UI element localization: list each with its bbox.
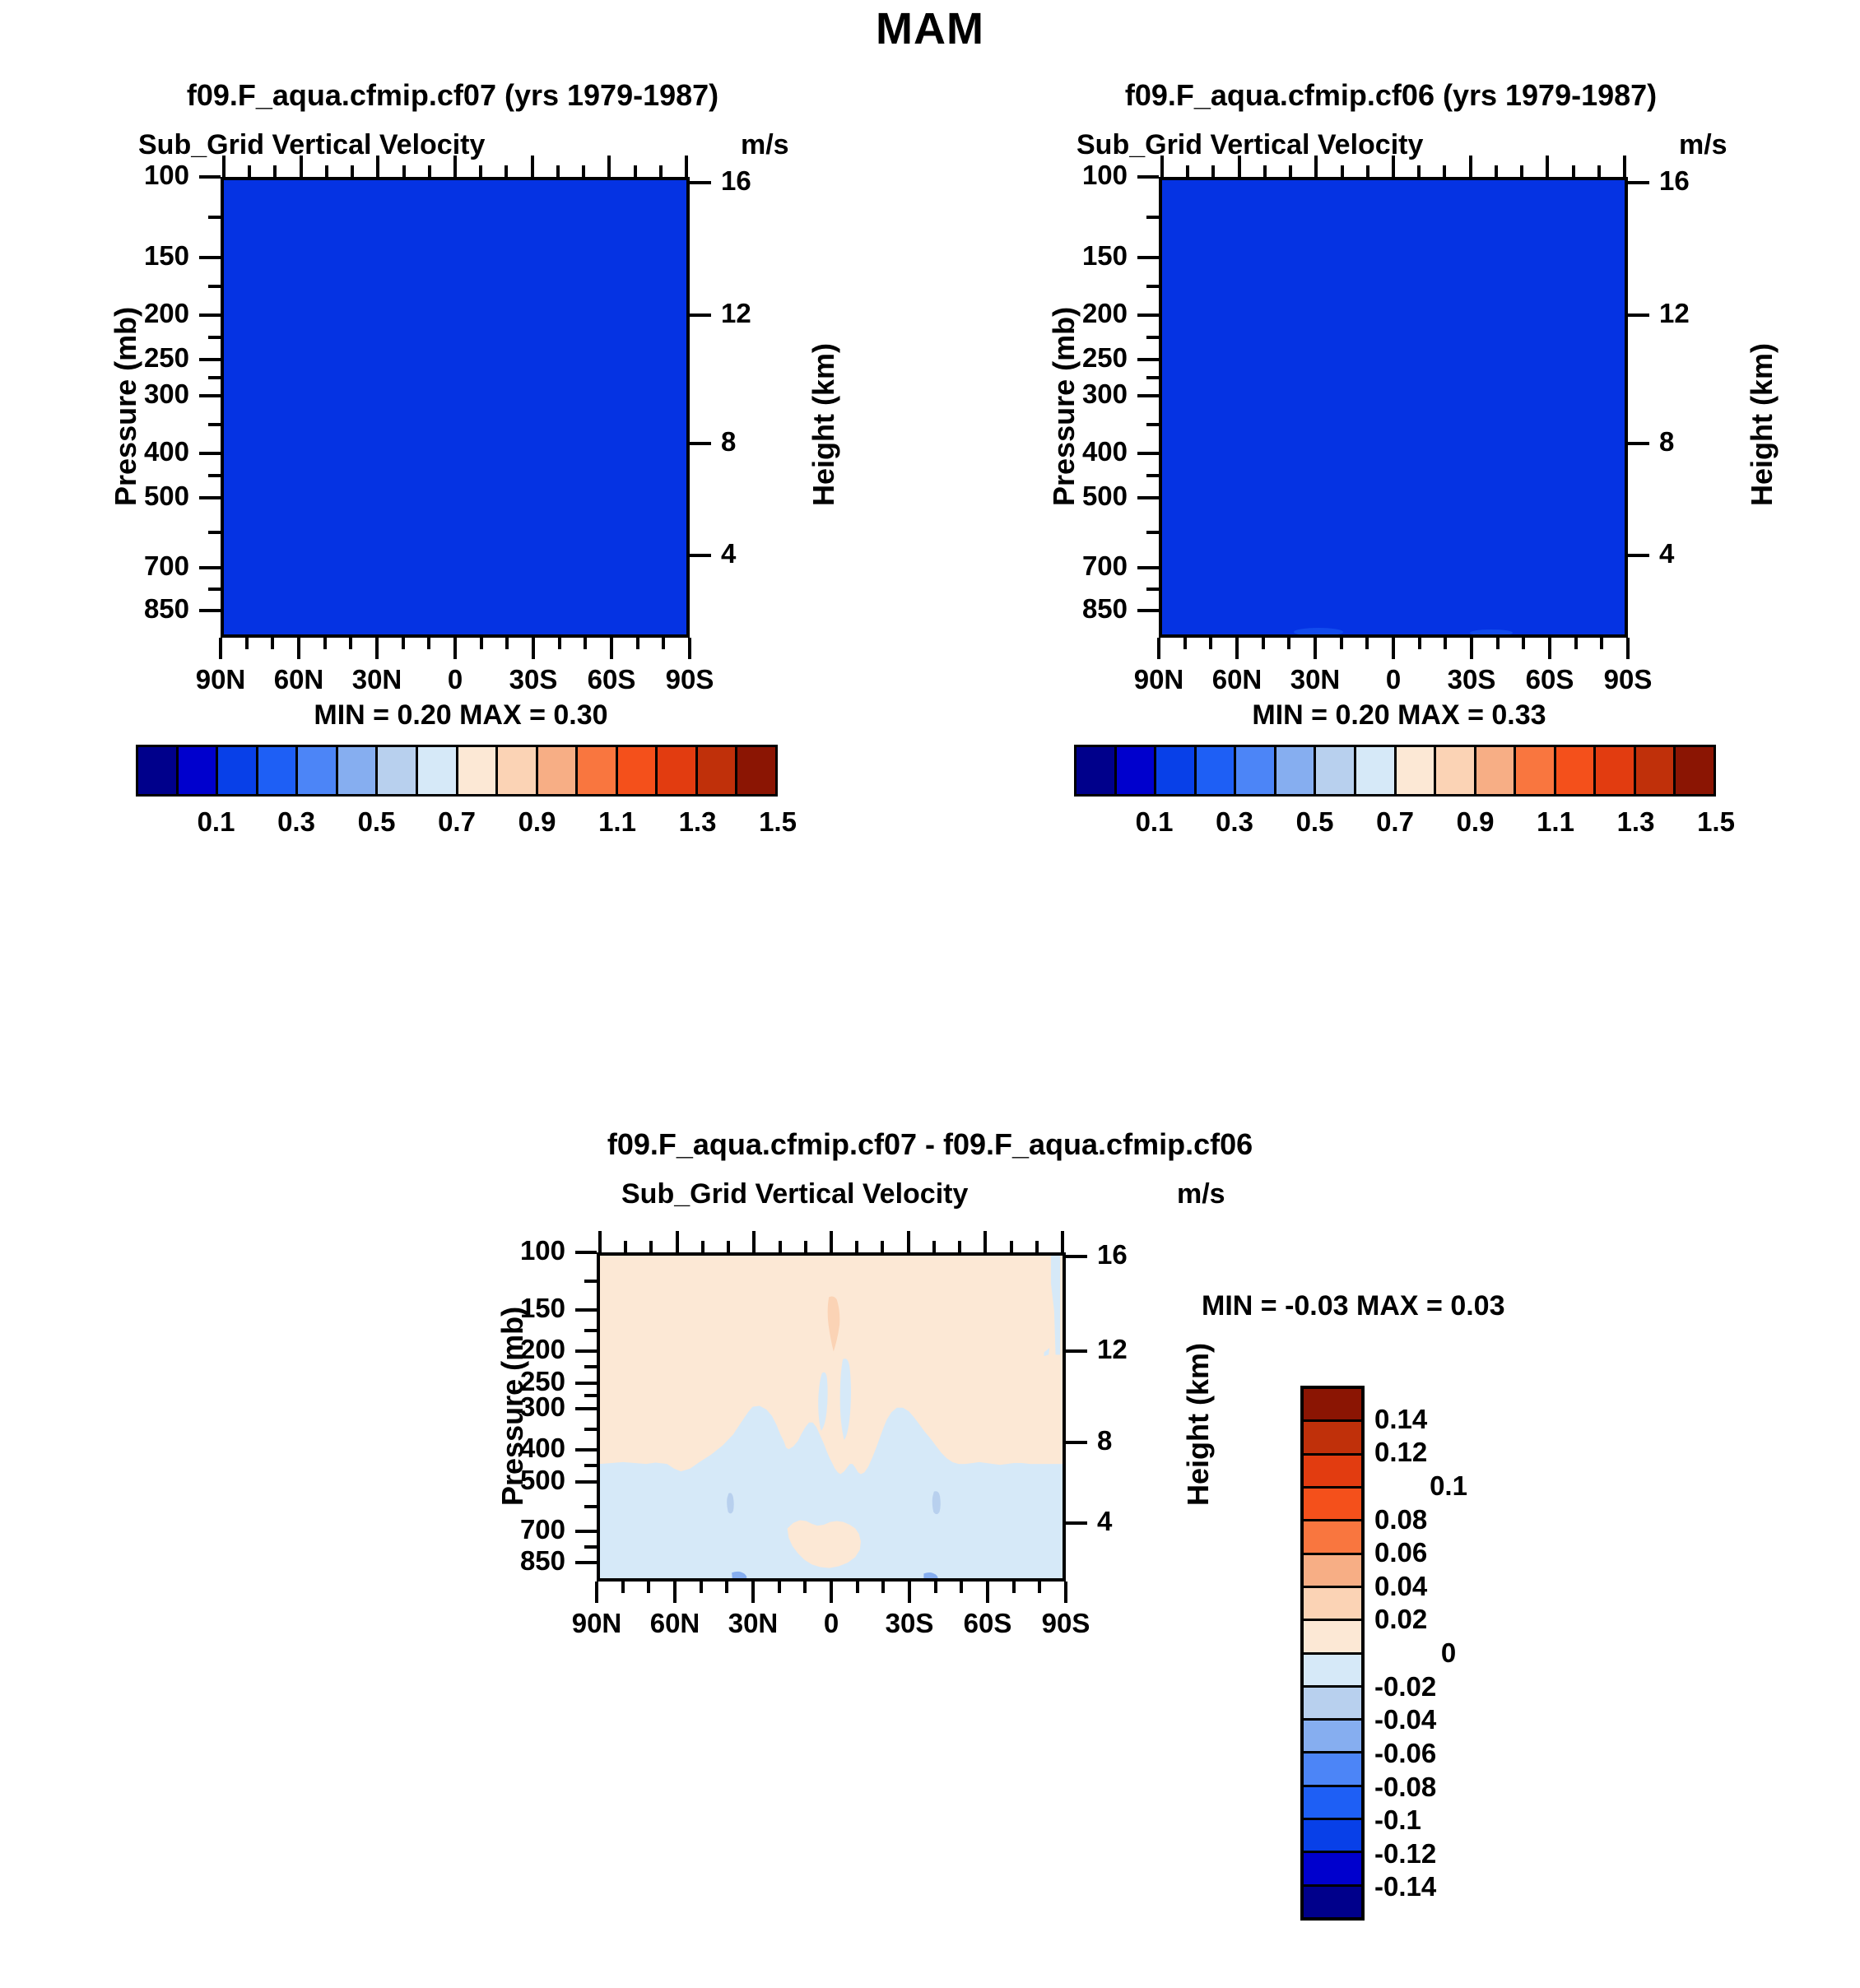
panel-right-y-tick [1137,175,1159,179]
panel-right-top-minor-tick [1572,165,1575,177]
panel-left-top-tick [685,156,688,177]
panel-diff-y-tick [575,1382,597,1385]
panel-left-colorbar-labels: 0.10.30.50.70.91.11.31.5 [136,806,778,839]
colorbar-swatch [1304,1422,1361,1455]
panel-right-top-tick [1469,156,1472,177]
colorbar-swatch [1397,747,1437,794]
panel-left-y-tick [199,314,221,317]
panel-diff-minmax: MIN = -0.03 MAX = 0.03 [1202,1290,1712,1322]
colorbar-tick-label: 0.3 [277,806,315,838]
panel-right-y-tick-label: 150 [1021,240,1128,272]
panel-left-y-tick-label: 150 [82,240,189,272]
panel-diff-top-tick [752,1231,756,1252]
colorbar-tick-label: 1.3 [679,806,717,838]
panel-left-y-tick [199,609,221,612]
panel-left-top-minor-tick [248,165,251,177]
panel-diff-height-tick-label: 16 [1097,1239,1128,1270]
colorbar-swatch [1304,1853,1361,1886]
panel-left-x-minor-tick [427,638,430,649]
panel-right-x-minor-tick [1287,638,1290,649]
panel-left-y2label: Height (km) [807,343,841,506]
panel-right-y-minor-tick [1146,216,1159,219]
panel-diff-x-tick [1064,1582,1067,1603]
panel-diff-x-minor-tick [778,1582,781,1593]
panel-right-y-axis: 100150200250300400500700850 [1021,177,1159,638]
panel-right-colorbar[interactable] [1074,745,1716,797]
colorbar-swatch [1676,747,1714,794]
panel-right-top-tick [1160,156,1164,177]
colorbar-tick-label: 0.06 [1374,1537,1523,1568]
panel-right-top-tick [1238,156,1241,177]
panel-left-y-minor-tick [208,588,221,591]
panel-left-y-minor-tick [208,376,221,379]
panel-left-x-tick [219,638,222,659]
panel-left-top-tick [453,156,457,177]
panel-left-x-minor-tick [323,638,327,649]
panel-left-x-minor-tick [271,638,274,649]
colorbar-swatch [1076,747,1117,794]
panel-diff-top-tick [598,1231,602,1252]
colorbar-tick-label: -0.08 [1374,1772,1523,1803]
colorbar-swatch [658,747,698,794]
panel-right-y-tick [1137,256,1159,259]
colorbar-swatch [1304,1721,1361,1753]
colorbar-tick-label: 1.1 [598,806,636,838]
panel-left-top-tick [607,156,611,177]
panel-right-y-tick-label: 850 [1021,593,1128,625]
panel-diff-y-tick [575,1251,597,1254]
panel-right-units: m/s [1679,129,1727,161]
panel-left-y-tick [199,175,221,179]
panel-diff-top-minor-tick [855,1241,858,1252]
panel-right-height-tick [1628,314,1649,317]
panel-left-y-tick [199,394,221,397]
colorbar-swatch [698,747,738,794]
colorbar-tick-label: 0.08 [1374,1504,1523,1535]
colorbar-swatch [1156,747,1197,794]
panel-left-units: m/s [741,129,789,161]
panel-diff-x-tick [986,1582,989,1603]
panel-diff-y-tick [575,1349,597,1353]
panel-right-y-tick [1137,394,1159,397]
panel-diff-y-tick [575,1480,597,1484]
panel-diff-x-minor-tick [647,1582,650,1593]
colorbar-swatch [258,747,299,794]
colorbar-tick-label: 0 [1374,1637,1523,1669]
panel-diff-top-minor-tick [649,1241,653,1252]
panel-left-top-tick [300,156,303,177]
panel-diff-x-axis [597,1582,1066,1605]
panel-diff-height-tick [1066,1349,1087,1353]
panel-diff-x-minor-tick [881,1582,885,1593]
panel-diff-y2label: Height (km) [1181,1343,1216,1506]
panel-right-height-tick [1628,442,1649,445]
panel-left-colorbar[interactable] [136,745,778,797]
colorbar-tick-label: 0.9 [518,806,556,838]
panel-left-x-minor-tick [402,638,405,649]
panel-left-x-minor-tick [245,638,249,649]
panel-right-y-minor-tick [1146,336,1159,339]
panel-left-y-tick [199,358,221,361]
panel-diff-x-tick-label: 90S [1016,1608,1115,1639]
colorbar-tick-label: 0.3 [1216,806,1253,838]
panel-diff-ylabel: Pressure (mb) [495,1307,530,1506]
panel-right-height-tick [1628,554,1649,557]
panel-diff-plot-area [597,1252,1066,1582]
colorbar-swatch [1636,747,1676,794]
panel-left-top-minor-tick [556,165,560,177]
colorbar-swatch [1304,1688,1361,1721]
panel-right-top-minor-tick [1366,165,1369,177]
panel-right-height-tick-label: 16 [1659,165,1690,197]
panel-diff-top-minor-tick [932,1241,936,1252]
panel-left-y-minor-tick [208,531,221,534]
panel-right-y-minor-tick [1146,474,1159,477]
panel-right-x-minor-tick [1496,638,1500,649]
panel-right-height-tick-label: 8 [1659,426,1674,458]
panel-diff-y-tick-label: 700 [477,1514,565,1545]
panel-right-top-minor-tick [1495,165,1498,177]
panel-right-top-minor-tick [1211,165,1215,177]
panel-diff-top-tick [676,1231,679,1252]
panel-diff-height-axis: 161284 [1066,1252,1197,1582]
panel-right-y-tick [1137,496,1159,499]
panel-left-y-tick [199,566,221,569]
panel-left-top-tick [531,156,534,177]
panel-left-y-minor-tick [208,336,221,339]
panel-diff-height-tick-label: 8 [1097,1425,1112,1456]
colorbar-swatch [1304,1753,1361,1786]
panel-left-minmax: MIN = 0.20 MAX = 0.30 [181,699,741,732]
panel-right-x-minor-tick [1209,638,1212,649]
colorbar-swatch [1316,747,1356,794]
panel-right-minmax: MIN = 0.20 MAX = 0.33 [1119,699,1679,732]
colorbar-tick-label: -0.02 [1374,1671,1523,1702]
panel-diff-height-tick [1066,1255,1087,1258]
colorbar-swatch [1356,747,1397,794]
panel-diff-top-minor-tick [701,1241,704,1252]
panel-left-top-minor-tick [634,165,637,177]
colorbar-tick-label: -0.1 [1374,1805,1523,1836]
panel-diff-top-axis [597,1231,1066,1254]
panel-right-top-minor-tick [1341,165,1344,177]
panel-diff-x-minor-tick [700,1582,703,1593]
panel-diff-y-tick [575,1530,597,1533]
panel-diff-height-tick [1066,1521,1087,1525]
panel-right-x-tick [1470,638,1473,659]
colorbar-swatch [138,747,179,794]
panel-diff-top-minor-tick [779,1241,782,1252]
colorbar-swatch [1304,1787,1361,1820]
panel-right-x-labels: 90N60N30N030S60S90S [1159,664,1628,697]
colorbar-tick-label: 0.12 [1374,1437,1523,1468]
panel-left-y-minor-tick [208,423,221,426]
panel-left-y-minor-tick [208,474,221,477]
panel-right-y-tick [1137,609,1159,612]
panel-left-x-minor-tick [349,638,352,649]
panel-diff-x-tick [908,1582,911,1603]
panel-right-y-minor-tick [1146,423,1159,426]
panel-right-field [1162,180,1625,634]
panel-diff-top-minor-tick [1035,1241,1039,1252]
panel-right-y-minor-tick [1146,285,1159,288]
colorbar-swatch [1304,1588,1361,1621]
colorbar-tick-label: 0.7 [1376,806,1414,838]
panel-right-top-minor-tick [1263,165,1267,177]
colorbar-tick-label: -0.12 [1374,1838,1523,1870]
panel-diff-top-minor-tick [804,1241,807,1252]
colorbar-tick-label: 0.7 [438,806,476,838]
colorbar-tick-label: 0.5 [358,806,396,838]
colorbar-swatch [1304,1521,1361,1554]
colorbar-swatch [1304,1621,1361,1654]
panel-left-x-tick [610,638,613,659]
panel-right-top-minor-tick [1520,165,1523,177]
panel-diff-colorbar[interactable] [1300,1386,1365,1921]
panel-right-y-tick-label: 100 [1021,160,1128,191]
panel-diff-units: m/s [1177,1178,1225,1210]
panel-left-top-minor-tick [325,165,328,177]
panel-right-top-axis [1159,156,1628,179]
panel-diff-height-tick-label: 12 [1097,1334,1128,1365]
panel-diff-x-minor-tick [934,1582,937,1593]
panel-left-y-minor-tick [208,285,221,288]
colorbar-swatch [1556,747,1597,794]
panel-right-x-minor-tick [1365,638,1369,649]
panel-right-x-minor-tick [1262,638,1265,649]
panel-left-height-tick [690,442,711,445]
panel-left-x-minor-tick [636,638,639,649]
panel-left-x-minor-tick [558,638,561,649]
panel-right-y-minor-tick [1146,588,1159,591]
panel-diff-subtitle: Sub_Grid Vertical Velocity [621,1178,968,1210]
panel-diff-y-tick-label: 100 [477,1235,565,1266]
colorbar-swatch [1304,1887,1361,1917]
colorbar-tick-label: 0.1 [1374,1470,1523,1502]
colorbar-tick-label: 0.1 [1136,806,1174,838]
panel-right-top-tick [1623,156,1626,177]
panel-diff-y-minor-tick [584,1505,597,1508]
panel-left-x-tick [453,638,457,659]
panel-diff-height-tick [1066,1441,1087,1444]
colorbar-tick-label: -0.14 [1374,1871,1523,1902]
panel-diff-y-minor-tick [584,1329,597,1332]
panel-right-y-tick [1137,358,1159,361]
colorbar-swatch [1197,747,1237,794]
panel-right-y-tick [1137,566,1159,569]
panel-right-x-tick-label: 90S [1579,664,1677,695]
panel-right-x-tick [1626,638,1630,659]
colorbar-swatch [538,747,579,794]
panel-left-x-axis [221,638,690,661]
panel-diff-y-minor-tick [584,1394,597,1397]
panel-left-y-tick [199,452,221,455]
colorbar-tick-label: -0.06 [1374,1738,1523,1769]
colorbar-swatch [1304,1389,1361,1422]
panel-left-top-axis [221,156,690,179]
colorbar-swatch [1304,1456,1361,1489]
panel-left-top-tick [222,156,226,177]
panel-right-x-minor-tick [1183,638,1187,649]
colorbar-swatch [1117,747,1157,794]
colorbar-tick-label: -0.04 [1374,1704,1523,1735]
panel-right-top-minor-tick [1289,165,1292,177]
panel-left-x-tick [688,638,691,659]
panel-right: f09.F_aqua.cfmip.cf06 (yrs 1979-1987) Su… [1021,78,1761,992]
panel-diff-top-minor-tick [727,1241,730,1252]
panel-right-y2label: Height (km) [1745,343,1779,506]
panel-right-y-tick [1137,452,1159,455]
colorbar-swatch [338,747,379,794]
colorbar-swatch [218,747,258,794]
panel-diff-top-minor-tick [881,1241,884,1252]
panel-left-x-labels: 90N60N30N030S60S90S [221,664,690,697]
panel-right-ylabel: Pressure (mb) [1047,307,1081,506]
panel-diff-y-minor-tick [584,1365,597,1368]
panel-diff-x-minor-tick [1038,1582,1041,1593]
colorbar-tick-label: 0.04 [1374,1571,1523,1602]
panel-right-y-tick-label: 700 [1021,550,1128,582]
panel-left-x-minor-tick [584,638,587,649]
panel-right-height-tick-label: 4 [1659,538,1674,569]
panel-right-x-minor-tick [1444,638,1447,649]
colorbar-tick-label: 0.14 [1374,1404,1523,1435]
colorbar-swatch [498,747,538,794]
panel-diff-y-tick [575,1308,597,1312]
panel-left-top-minor-tick [402,165,406,177]
colorbar-swatch [1304,1555,1361,1588]
colorbar-swatch [1276,747,1317,794]
colorbar-swatch [1516,747,1556,794]
panel-left-top-minor-tick [582,165,585,177]
panel-right-x-axis [1159,638,1628,661]
colorbar-swatch [1304,1820,1361,1853]
panel-diff-x-tick [751,1582,755,1603]
colorbar-swatch [1236,747,1276,794]
colorbar-tick-label: 1.3 [1617,806,1655,838]
panel-left-x-tick [297,638,300,659]
colorbar-tick-label: 0.02 [1374,1604,1523,1635]
panel-right-height-tick-label: 12 [1659,298,1690,329]
panel-left-top-minor-tick [505,165,508,177]
panel-left-height-tick [690,181,711,184]
panel-left-height-tick [690,314,711,317]
colorbar-swatch [1304,1489,1361,1521]
panel-diff-y-minor-tick [584,1464,597,1467]
panel-right-y-minor-tick [1146,531,1159,534]
colorbar-swatch [1304,1655,1361,1688]
panel-left-x-minor-tick [480,638,483,649]
panel-left-height-tick [690,554,711,557]
panel-left-height-tick-label: 8 [721,426,736,458]
panel-right-y-tick [1137,314,1159,317]
panel-diff: f09.F_aqua.cfmip.cf07 - f09.F_aqua.cfmip… [477,1127,1383,1988]
page-title: MAM [0,3,1860,54]
panel-right-plot-area [1159,177,1628,638]
panel-left-ylabel: Pressure (mb) [109,307,143,506]
colorbar-swatch [618,747,658,794]
panel-right-title: f09.F_aqua.cfmip.cf06 (yrs 1979-1987) [1021,78,1761,113]
panel-left-top-minor-tick [351,165,354,177]
panel-left-y-tick-label: 850 [82,593,189,625]
colorbar-tick-label: 0.9 [1457,806,1495,838]
panel-diff-x-minor-tick [960,1582,963,1593]
panel-diff-x-minor-tick [803,1582,807,1593]
colorbar-tick-label: 1.1 [1537,806,1574,838]
panel-right-colorbar-labels: 0.10.30.50.70.91.11.31.5 [1074,806,1716,839]
panel-right-x-tick [1314,638,1317,659]
panel-left-top-minor-tick [659,165,663,177]
panel-diff-top-tick [830,1231,833,1252]
panel-right-top-minor-tick [1186,165,1189,177]
panel-right-x-tick [1235,638,1239,659]
panel-diff-x-tick [595,1582,598,1603]
panel-left-title: f09.F_aqua.cfmip.cf07 (yrs 1979-1987) [82,78,823,113]
colorbar-tick-label: 1.5 [1697,806,1735,838]
panel-left-y-tick-label: 700 [82,550,189,582]
panel-diff-y-minor-tick [584,1280,597,1283]
colorbar-tick-label: 0.1 [198,806,235,838]
panel-diff-top-tick [983,1231,987,1252]
panel-diff-y-tick [575,1448,597,1452]
panel-right-height-axis: 161284 [1628,177,1760,638]
colorbar-swatch [737,747,775,794]
panel-diff-top-tick [1061,1231,1064,1252]
panel-right-x-tick [1392,638,1395,659]
panel-right-x-minor-tick [1600,638,1603,649]
panel-left-x-minor-tick [505,638,509,649]
panel-right-x-minor-tick [1418,638,1421,649]
panel-diff-title: f09.F_aqua.cfmip.cf07 - f09.F_aqua.cfmip… [477,1127,1383,1162]
panel-left-top-minor-tick [428,165,431,177]
panel-right-top-minor-tick [1443,165,1446,177]
panel-right-x-minor-tick [1522,638,1525,649]
colorbar-swatch [1476,747,1517,794]
panel-left-y-minor-tick [208,216,221,219]
panel-left-height-tick-label: 12 [721,298,751,329]
colorbar-tick-label: 0.5 [1296,806,1334,838]
colorbar-swatch [378,747,418,794]
panel-left-height-tick-label: 4 [721,538,736,569]
panel-right-x-tick [1157,638,1160,659]
panel-diff-top-minor-tick [624,1241,627,1252]
panel-right-top-tick [1546,156,1549,177]
panel-left-x-minor-tick [662,638,665,649]
panel-diff-top-minor-tick [958,1241,961,1252]
panel-left-y-tick-label: 100 [82,160,189,191]
panel-diff-x-tick [673,1582,677,1603]
panel-right-y-minor-tick [1146,376,1159,379]
panel-left-top-minor-tick [479,165,482,177]
panel-left-height-axis: 161284 [690,177,821,638]
panel-diff-top-minor-tick [1010,1241,1013,1252]
colorbar-swatch [1436,747,1476,794]
panel-left-plot-area [221,177,690,638]
colorbar-swatch [458,747,499,794]
panel-right-top-tick [1314,156,1318,177]
panel-diff-x-tick [830,1582,833,1603]
panel-right-top-tick [1392,156,1395,177]
panel-left-y-axis: 100150200250300400500700850 [82,177,221,638]
colorbar-swatch [418,747,458,794]
panel-right-x-tick [1548,638,1551,659]
panel-left-top-minor-tick [273,165,277,177]
panel-left-top-tick [376,156,379,177]
colorbar-swatch [179,747,219,794]
panel-diff-x-minor-tick [621,1582,625,1593]
panel-right-x-minor-tick [1574,638,1578,649]
panel-diff-y-tick [575,1561,597,1564]
